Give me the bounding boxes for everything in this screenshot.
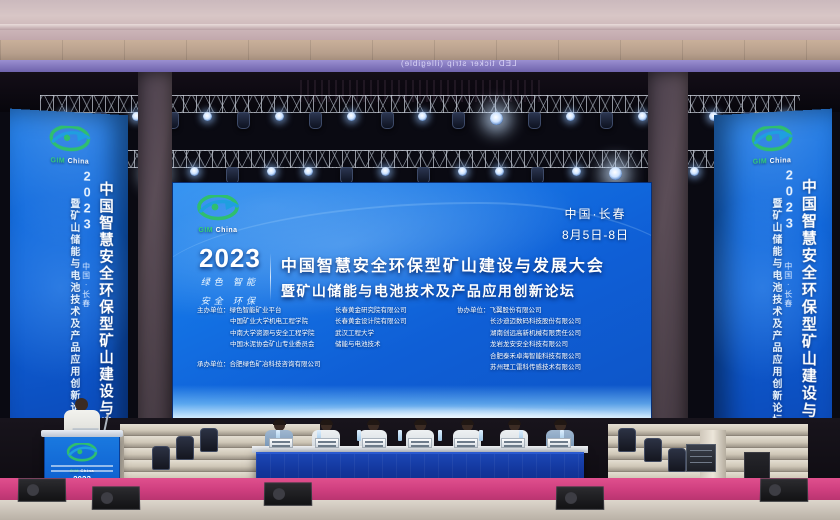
host-item-row: 中国水泥协会矿山专业委员会 <box>197 339 325 350</box>
screen-title-block: 2023 绿色 智能 安全 环保 中国智慧安全环保型矿山建设与发展大会 暨矿山储… <box>199 245 605 308</box>
podium-logo: GIM China <box>65 443 99 473</box>
screen-location-date: 中国·长春 8月5日-8日 <box>562 205 629 243</box>
screen-year-column: 2023 绿色 智能 安全 环保 <box>199 245 270 308</box>
gim-text-cn: GIM <box>51 157 66 165</box>
gim-text-cn: GIM <box>198 227 213 234</box>
coorganizer-item-row: 长沙迪迈数码科技股份有限公司 <box>457 316 581 327</box>
gim-text-en: China <box>770 157 792 165</box>
side-banner-location-right: 中国·长春 <box>783 262 794 308</box>
undertaker-item: 合肥绿色矿冶科技咨询有限公司 <box>230 361 321 368</box>
stage-monitor-speaker <box>92 486 141 509</box>
par-light-icon <box>203 112 212 121</box>
moving-head-light-icon <box>600 112 613 129</box>
screen-slogan-line1: 绿色 智能 <box>199 276 261 290</box>
name-placard <box>315 438 339 448</box>
host-column-1: 主办单位：绿色智能矿业平台 中国矿业大学机电工程学院 中南大学资源与安全工程学院… <box>197 305 325 373</box>
par-light-icon <box>495 167 504 176</box>
gim-text-cn: GIM <box>753 158 767 166</box>
par-light-icon <box>566 112 575 121</box>
screen-bottom-glow <box>173 385 651 419</box>
side-banner-year-right: 2023 <box>782 167 797 232</box>
spacer <box>197 351 325 359</box>
par-light-icon <box>609 167 622 180</box>
par-light-icon <box>304 167 313 176</box>
par-light-icon <box>190 167 199 176</box>
side-banner-year-left: 2023 <box>80 168 95 232</box>
gim-logo-right: GIM China <box>749 125 794 166</box>
gim-logo-screen: GIM China <box>195 195 241 234</box>
stone-wall-band <box>0 40 840 62</box>
coorganizer-item: 飞翼股份有限公司 <box>490 307 542 314</box>
par-light-icon <box>418 112 427 121</box>
screen-year: 2023 <box>199 245 261 271</box>
coorganizer-label: 协办单位： <box>457 305 490 316</box>
par-light-icon <box>267 167 276 176</box>
par-light-icon <box>690 167 699 176</box>
moving-head-light-icon <box>237 112 250 129</box>
host-item-row: 中南大学资源与安全工程学院 <box>197 328 325 339</box>
screen-title-line1: 中国智慧安全环保型矿山建设与发展大会 <box>281 252 605 276</box>
gim-swoosh-icon <box>195 195 241 221</box>
coorganizer-row: 协办单位：飞翼股份有限公司 <box>457 305 581 316</box>
host-item-row: 武汉工程大学 <box>335 328 447 339</box>
gim-logo-text-left: GIM China <box>47 157 92 166</box>
par-light-icon <box>381 167 390 176</box>
host-column-2: 长春黄金研究院有限公司 长春黄金设计院有限公司 武汉工程大学 储能与电池技术 <box>335 305 447 373</box>
floor-moving-light-icon <box>618 428 636 452</box>
coorganizer-item-row: 湖南创远高新机械有限责任公司 <box>457 328 581 339</box>
floor-moving-light-icon <box>644 438 662 462</box>
floor-moving-light-icon <box>152 446 170 470</box>
coorganizer-item-row: 龙岩龙安安全科技有限公司 <box>457 339 581 350</box>
undertaker-row: 承办单位：合肥绿色矿冶科技咨询有限公司 <box>197 359 325 370</box>
coorganizer-item-row: 苏州理工雷科传感技术有限公司 <box>457 362 581 373</box>
screen-title-line2: 暨矿山储能与电池技术及产品应用创新论坛 <box>281 281 605 301</box>
host-item-row: 长春黄金研究院有限公司 <box>335 305 447 316</box>
screen-titles: 中国智慧安全环保型矿山建设与发展大会 暨矿山储能与电池技术及产品应用创新论坛 <box>281 252 605 301</box>
coorganizer-item-row: 合肥泰禾卓海智能科技有限公司 <box>457 351 581 362</box>
ticker-text: LED ticker strip (illegible) <box>400 60 516 68</box>
side-banner-subtitle-right: 暨矿山储能与电池技术及产品应用创新论坛 <box>770 198 780 427</box>
name-placard <box>362 438 386 448</box>
side-banner-location-left: 中国·长春 <box>81 262 92 308</box>
gim-logo-text-screen: GIM China <box>195 227 241 234</box>
stage-monitor-speaker <box>18 478 67 501</box>
undertaker-label: 承办单位： <box>197 359 230 370</box>
podium-title-line-2 <box>51 470 113 472</box>
led-ticker-strip: LED ticker strip (illegible) <box>0 60 840 72</box>
stage-monitor-speaker <box>760 478 809 501</box>
par-light-icon <box>347 112 356 121</box>
host-item-row: 中国矿业大学机电工程学院 <box>197 316 325 327</box>
moving-head-light-icon <box>381 112 394 129</box>
ceiling <box>0 0 840 40</box>
host-label: 主办单位： <box>197 305 230 316</box>
main-led-screen: GIM China 中国·长春 8月5日-8日 2023 绿色 智能 安全 环保… <box>172 182 652 420</box>
conference-stage-photo: LED ticker strip (illegible) <box>0 0 840 520</box>
name-placards <box>258 438 582 447</box>
par-light-icon <box>638 112 647 121</box>
coorganizer-column: 协办单位：飞翼股份有限公司 长沙迪迈数码科技股份有限公司 湖南创远高新机械有限责… <box>457 305 581 373</box>
side-banner-subtitle-left: 暨矿山储能与电池技术及产品应用创新论坛 <box>68 198 78 426</box>
host-item-row: 储能与电池技术 <box>335 339 447 350</box>
gim-swoosh-icon <box>749 125 794 153</box>
stage-monitor-speaker <box>264 482 313 505</box>
name-placard <box>454 438 478 448</box>
name-placard <box>547 438 571 448</box>
host-item-row: 长春黄金设计院有限公司 <box>335 316 447 327</box>
screen-location: 中国·长春 <box>562 205 629 222</box>
gim-swoosh-icon <box>47 125 92 153</box>
host-item: 绿色智能矿业平台 <box>230 307 282 314</box>
gim-swoosh-icon <box>65 443 99 462</box>
moving-head-light-icon <box>528 112 541 129</box>
screen-dates: 8月5日-8日 <box>562 226 629 243</box>
podium-title-line-1 <box>51 465 113 467</box>
gim-text-en: China <box>216 227 238 234</box>
par-light-icon <box>572 167 581 176</box>
name-placard <box>501 438 525 448</box>
organizer-lists: 主办单位：绿色智能矿业平台 中国矿业大学机电工程学院 中南大学资源与安全工程学院… <box>197 305 635 373</box>
par-light-icon <box>490 112 503 125</box>
par-light-icon <box>275 112 284 121</box>
par-light-icon <box>458 167 467 176</box>
floor-moving-light-icon <box>176 436 194 460</box>
equipment-rack-case <box>686 444 716 472</box>
gim-text-en: China <box>68 158 90 166</box>
floor-moving-light-icon <box>668 448 686 472</box>
name-placard <box>408 438 432 448</box>
moving-head-light-icon <box>309 112 322 129</box>
name-placard <box>269 438 293 448</box>
gim-logo-left: GIM China <box>47 125 92 166</box>
gim-logo-text-right: GIM China <box>749 157 794 166</box>
stage-monitor-speaker <box>556 486 605 509</box>
floor-moving-light-icon <box>200 428 218 452</box>
host-row: 主办单位：绿色智能矿业平台 <box>197 305 325 316</box>
moving-head-light-icon <box>452 112 465 129</box>
ceiling-molding <box>0 24 840 30</box>
podium-top-surface <box>41 430 123 437</box>
title-divider <box>270 253 271 301</box>
